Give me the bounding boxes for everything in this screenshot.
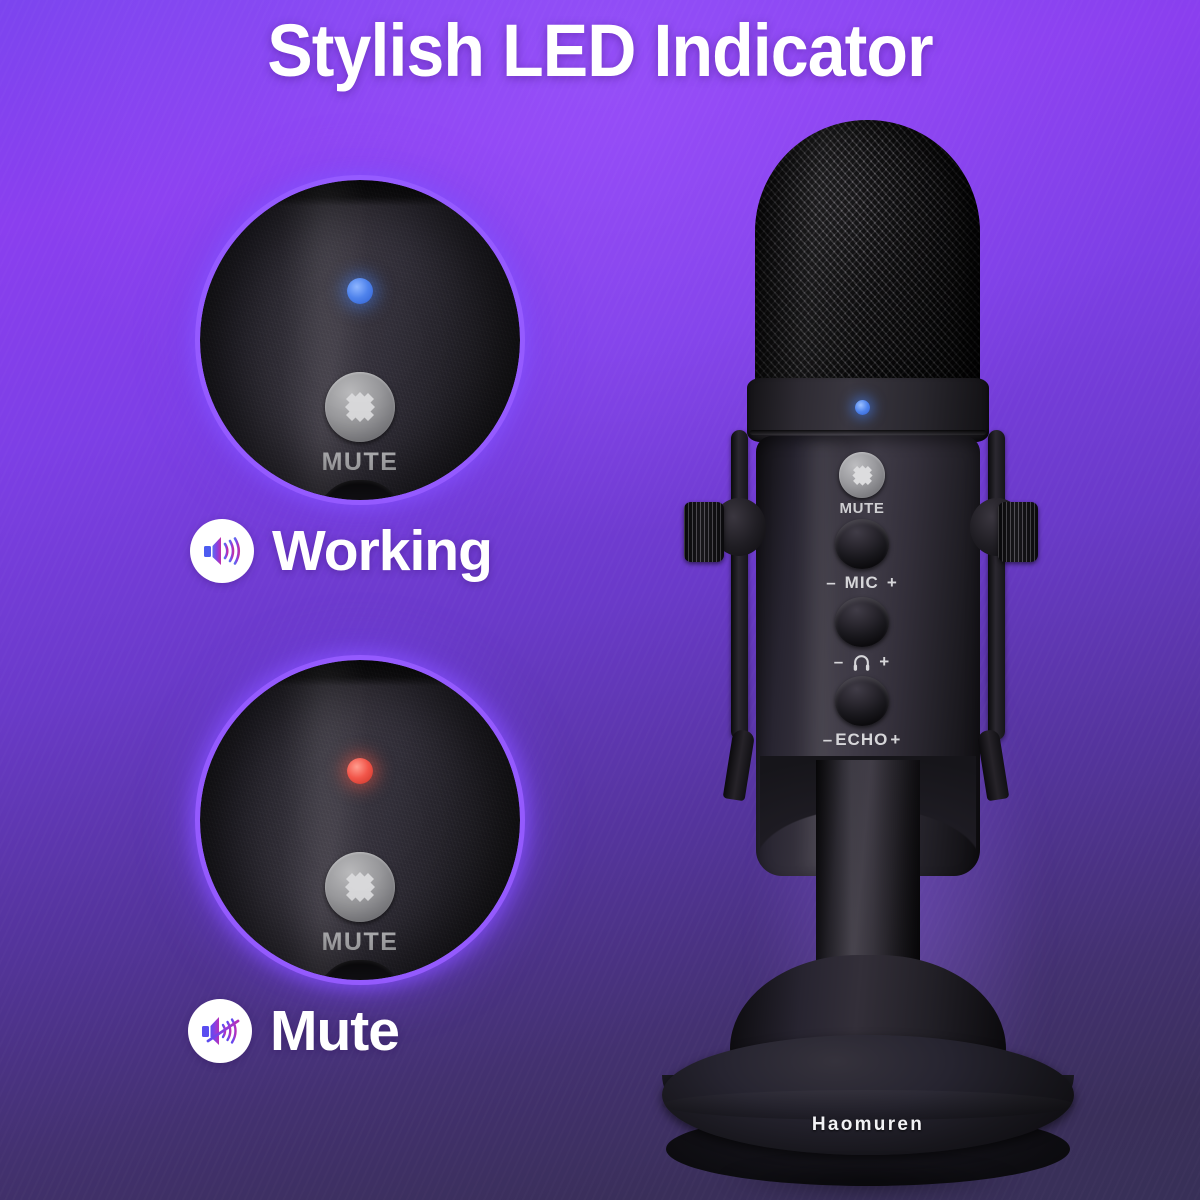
plus-sign: + — [890, 730, 901, 750]
callout-mute: MUTE — [200, 660, 520, 980]
echo-label: ECHO — [835, 730, 888, 750]
mic-gain-row: – MIC + — [802, 573, 922, 593]
plus-sign: + — [887, 573, 898, 593]
yoke-arm-right — [988, 430, 1005, 740]
badge-mute: Mute — [188, 998, 399, 1064]
badge-label-mute: Mute — [270, 998, 399, 1064]
inset-photo-working: MUTE — [200, 180, 520, 500]
microphone-product: MUTE – MIC + – + – ECHO + — [600, 100, 1200, 1180]
product-feature-image: Stylish LED Indicator MUTE — [0, 0, 1200, 1200]
headphone-volume-row: – + — [802, 652, 922, 672]
badge-working: Working — [190, 518, 492, 584]
inset-ring — [200, 660, 520, 980]
minus-sign: – — [823, 730, 833, 750]
page-title: Stylish LED Indicator — [48, 8, 1152, 93]
echo-row: – ECHO + — [802, 730, 922, 750]
product-led-indicator — [855, 400, 870, 415]
plus-sign: + — [879, 652, 890, 672]
tension-knob-right[interactable] — [998, 502, 1038, 562]
mic-grille-shading — [755, 120, 980, 395]
product-mute-label: MUTE — [832, 500, 892, 517]
yoke-arm-left — [731, 430, 748, 740]
base-contact-shadow — [660, 1158, 1078, 1200]
product-mute-button[interactable] — [839, 452, 885, 498]
mic-collar-seam — [750, 430, 986, 435]
mute-glyph-icon — [849, 462, 876, 489]
inset-ring — [200, 180, 520, 500]
headphone-volume-knob[interactable] — [835, 597, 889, 647]
minus-sign: – — [826, 573, 836, 593]
speaker-muted-icon — [188, 999, 252, 1063]
speaker-on-icon — [190, 519, 254, 583]
badge-label-working: Working — [272, 518, 492, 584]
mic-gain-label: MIC — [845, 573, 879, 593]
callout-working: MUTE — [200, 180, 520, 500]
brand-name: Haomuren — [754, 1114, 982, 1136]
echo-knob[interactable] — [835, 676, 889, 726]
inset-photo-mute: MUTE — [200, 660, 520, 980]
tension-knob-left[interactable] — [684, 502, 724, 562]
headphone-icon — [852, 653, 871, 672]
mic-gain-knob[interactable] — [835, 519, 889, 569]
minus-sign: – — [834, 652, 844, 672]
